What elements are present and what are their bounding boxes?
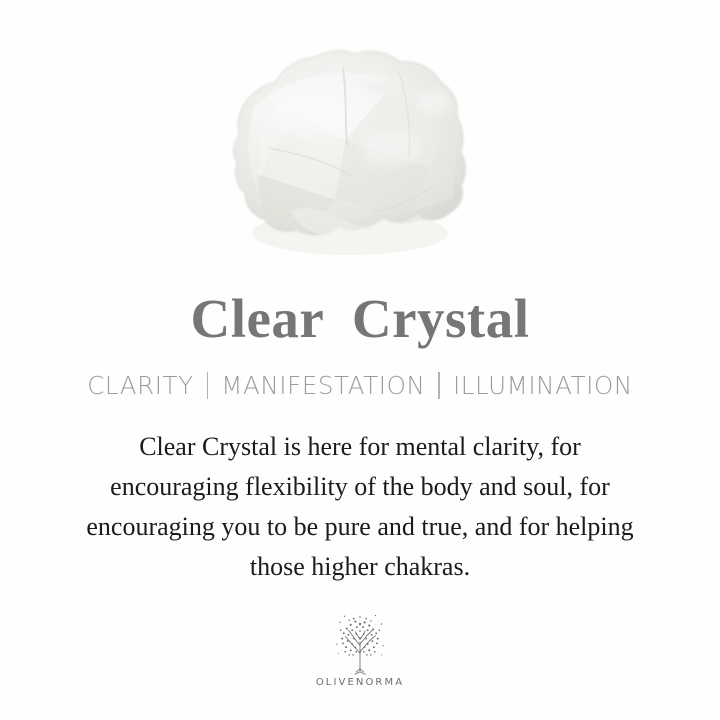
product-info-card: Clear Crystal CLARITY MANIFESTATION ILLU… bbox=[0, 0, 720, 720]
keyword-clarity: CLARITY bbox=[87, 371, 193, 400]
keyword-manifestation: MANIFESTATION bbox=[221, 371, 425, 400]
description-line: Clear Crystal is here for mental clarity… bbox=[40, 427, 680, 467]
brand-name: OLIVENORMA bbox=[316, 677, 404, 688]
keyword-illumination: ILLUMINATION bbox=[453, 371, 633, 400]
product-description: Clear Crystal is here for mental clarity… bbox=[40, 427, 680, 587]
tree-logo-icon bbox=[321, 607, 399, 675]
crystal-image-area bbox=[0, 0, 720, 285]
keyword-separator bbox=[438, 372, 440, 399]
raw-clear-quartz-crystal-icon bbox=[195, 28, 495, 273]
description-line: encouraging flexibility of the body and … bbox=[40, 467, 680, 507]
keyword-separator bbox=[207, 372, 209, 399]
page-title: Clear Crystal bbox=[191, 285, 530, 351]
description-line: those higher chakras. bbox=[40, 547, 680, 587]
brand-logo: OLIVENORMA bbox=[316, 607, 404, 688]
keyword-list: CLARITY MANIFESTATION ILLUMINATION bbox=[87, 361, 633, 409]
description-line: encouraging you to be pure and true, and… bbox=[40, 507, 680, 547]
